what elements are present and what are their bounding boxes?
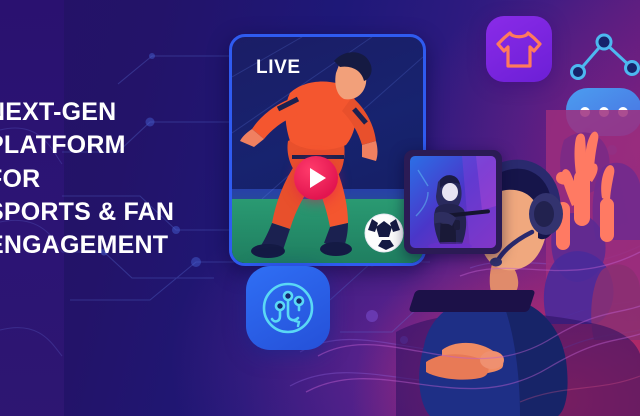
headline-line-5: ENGAGEMENT (0, 229, 217, 262)
live-badge-label: LIVE (256, 57, 301, 79)
ai-circuit-face-icon (246, 266, 330, 350)
tshirt-icon (486, 16, 552, 82)
page-title: NEXT-GEN PLATFORM FOR SPORTS & FAN ENGAG… (0, 96, 217, 262)
monitor-screen (410, 156, 496, 248)
play-triangle-icon (310, 168, 326, 188)
fps-soldier-character (410, 156, 496, 248)
headline-line-2: PLATFORM (0, 129, 217, 162)
badge-ai-fan-intelligence[interactable]: ai-fan-intelligence (246, 266, 330, 350)
keyboard[interactable] (408, 290, 535, 312)
headline-line-4: SPORTS & FAN (0, 196, 217, 229)
headline-line-3: FOR (0, 163, 217, 196)
esports-scene: fps-soldier-character (396, 128, 640, 416)
headline-line-1: NEXT-GEN (0, 96, 217, 129)
gaming-monitor[interactable]: fps-soldier-character (404, 150, 502, 254)
hero-banner: NEXT-GEN PLATFORM FOR SPORTS & FAN ENGAG… (0, 0, 640, 416)
connected-nodes-graph-icon (566, 28, 640, 86)
play-button[interactable]: Play (294, 156, 338, 200)
badge-jersey[interactable]: jersey (486, 16, 552, 82)
